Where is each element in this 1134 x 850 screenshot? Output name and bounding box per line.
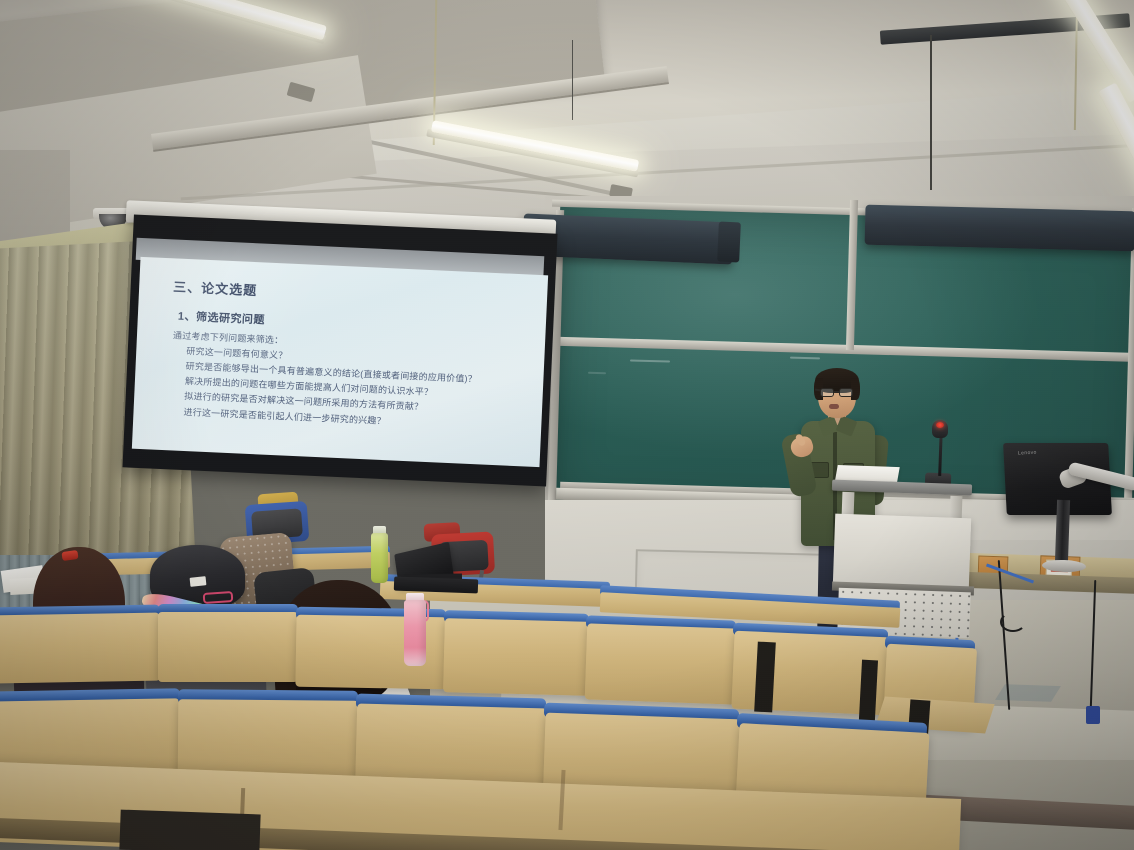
bench-backrest[interactable] [585,623,738,704]
coiled-cable [1000,612,1026,632]
ceiling-light-housing-right [865,205,1134,252]
ceiling-light-housing-endcap [717,222,741,263]
presenter-mouth [829,404,839,409]
bench-backrest[interactable] [0,613,161,684]
floor-tile-marking [995,684,1061,702]
presentation-slide: 三、论文选题 1、筛选研究问题 通过考虑下列问题来筛选： 研究这一问题有何意义？… [132,257,548,467]
slide-title: 三、论文选题 [173,276,531,311]
student-two-glasses [203,591,234,604]
under-desk-shadow [754,642,776,713]
monitor-stand-post [1055,500,1070,564]
presenter-glasses-bridge [833,391,840,393]
pink-water-bottle [404,600,426,666]
monitor-brand-logo: Lenovo [1018,449,1042,457]
bench-backrest[interactable] [158,612,298,682]
under-desk-shadow [119,810,260,850]
laptop-keyboard-base[interactable] [394,577,478,594]
projection-screen[interactable]: 三、论文选题 1、筛选研究问题 通过考虑下列问题来筛选： 研究这一问题有何意义？… [132,257,548,467]
presenter-glasses-lens [839,388,853,397]
lectern-body [833,514,971,591]
cap-tag-sticker [190,576,207,587]
microphone-status-led [936,422,944,428]
bench-backrest[interactable] [443,618,590,696]
ceiling-hanger-wire [572,40,573,120]
lecture-hall-photo: 三、论文选题 1、筛选研究问题 通过考虑下列问题来筛选： 研究这一问题有何意义？… [0,0,1134,850]
cable-plug [1086,706,1100,724]
green-water-bottle [371,533,388,583]
ceiling-hanger-wire [930,35,932,190]
presenter-glasses-lens [820,388,834,397]
